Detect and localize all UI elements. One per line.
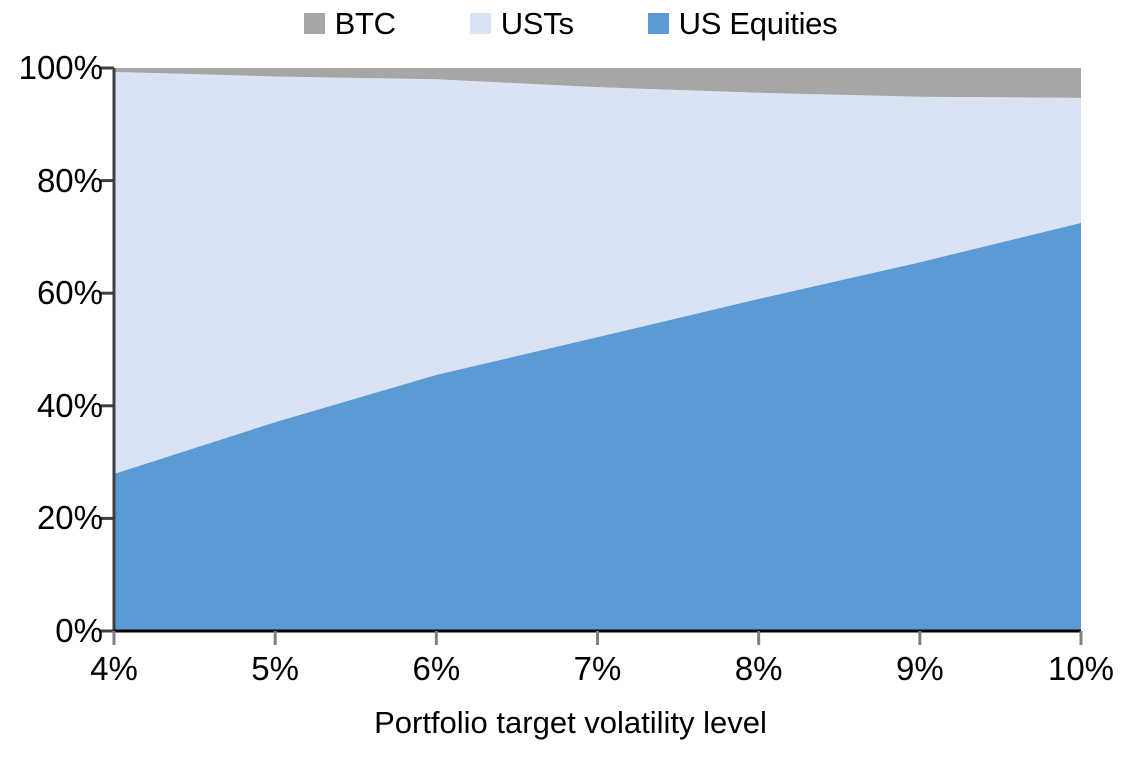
x-axis-tick-label: 6% xyxy=(412,652,460,685)
x-axis-tick-label: 9% xyxy=(896,652,944,685)
x-axis-tick-label: 7% xyxy=(574,652,622,685)
chart-container: BTC USTs US Equities 100%80%60%40%20%0% … xyxy=(0,0,1141,763)
x-axis-tick-label: 4% xyxy=(90,652,138,685)
x-axis-tick-label: 8% xyxy=(735,652,783,685)
x-axis-tick-label: 5% xyxy=(251,652,299,685)
x-axis-tick-label: 10% xyxy=(1048,652,1114,685)
x-axis-tick-labels: 4%5%6%7%8%9%10% xyxy=(0,0,1141,763)
x-axis-title: Portfolio target volatility level xyxy=(0,706,1141,740)
